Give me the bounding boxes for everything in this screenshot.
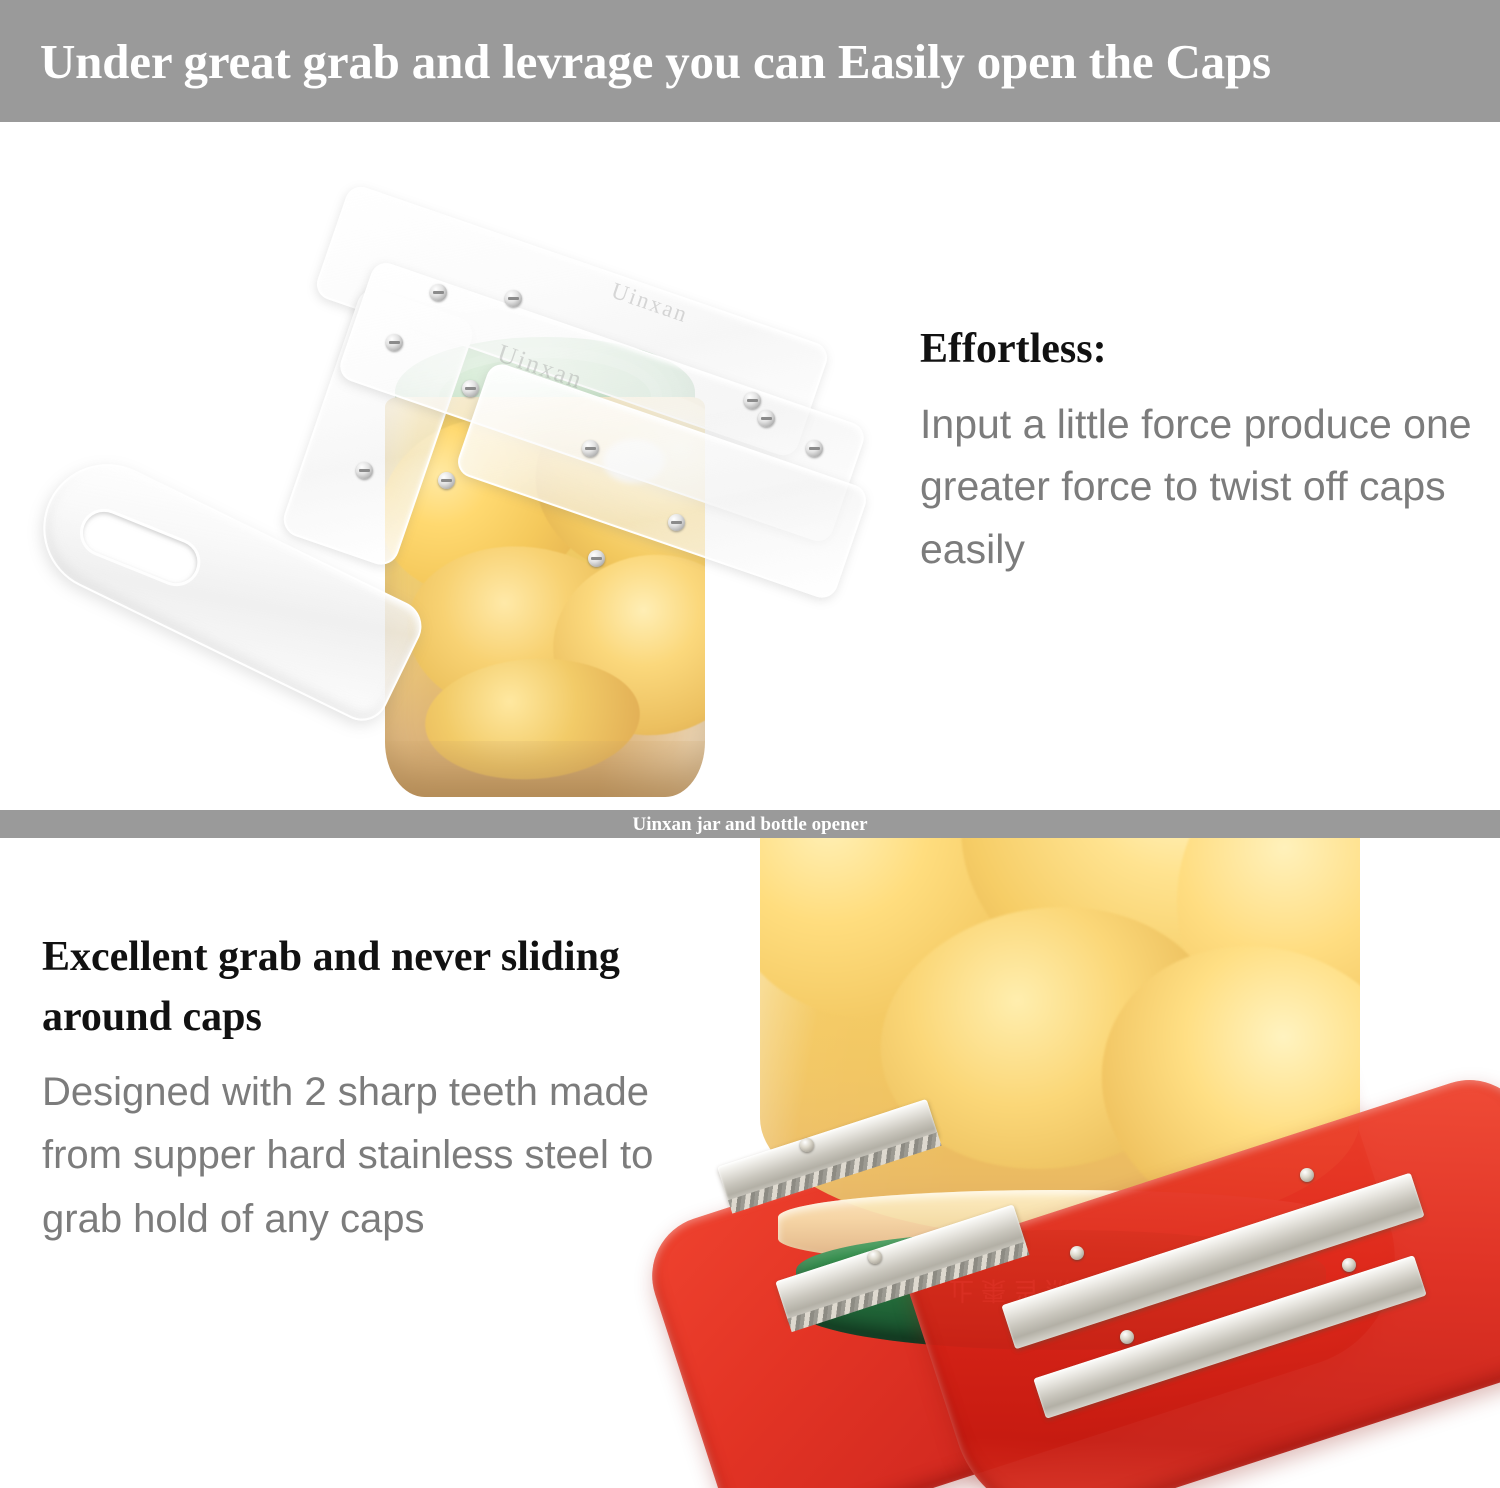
bottom-product-photo: 止棗当然彼的捷 <box>600 838 1500 1488</box>
bottom-panel: Excellent grab and never sliding around … <box>0 838 1500 1488</box>
handle-hole <box>77 506 204 590</box>
screw-icon <box>505 290 522 307</box>
screw-icon <box>588 550 605 567</box>
screw-icon <box>668 514 685 531</box>
rivet-icon <box>868 1250 882 1264</box>
screw-icon <box>438 472 455 489</box>
top-feature-title: Effortless: <box>920 327 1480 371</box>
screw-icon <box>356 462 373 479</box>
screw-icon <box>462 380 479 397</box>
screw-icon <box>386 334 403 351</box>
rivet-icon <box>1120 1330 1134 1344</box>
screw-icon <box>806 440 823 457</box>
top-feature-text: Effortless: Input a little force produce… <box>920 327 1480 580</box>
top-product-photo: Uinxan Uinxan <box>0 122 900 810</box>
middle-banner-text: Uinxan jar and bottle opener <box>632 815 867 834</box>
top-feature-body: Input a little force produce one greater… <box>920 393 1480 580</box>
middle-banner: Uinxan jar and bottle opener <box>0 810 1500 838</box>
top-banner: Under great grab and levrage you can Eas… <box>0 0 1500 122</box>
screw-icon <box>582 440 599 457</box>
transparent-jar-opener: Uinxan Uinxan <box>0 122 900 810</box>
rivet-icon <box>1342 1258 1356 1272</box>
top-banner-text: Under great grab and levrage you can Eas… <box>40 37 1271 86</box>
screw-icon <box>758 410 775 427</box>
top-panel: Uinxan Uinxan <box>0 122 1500 810</box>
rivet-icon <box>1300 1168 1314 1182</box>
product-infographic: Under great grab and levrage you can Eas… <box>0 0 1500 1488</box>
rivet-icon <box>1070 1246 1084 1260</box>
screw-icon <box>430 284 447 301</box>
rivet-icon <box>800 1138 814 1152</box>
screw-icon <box>744 392 761 409</box>
